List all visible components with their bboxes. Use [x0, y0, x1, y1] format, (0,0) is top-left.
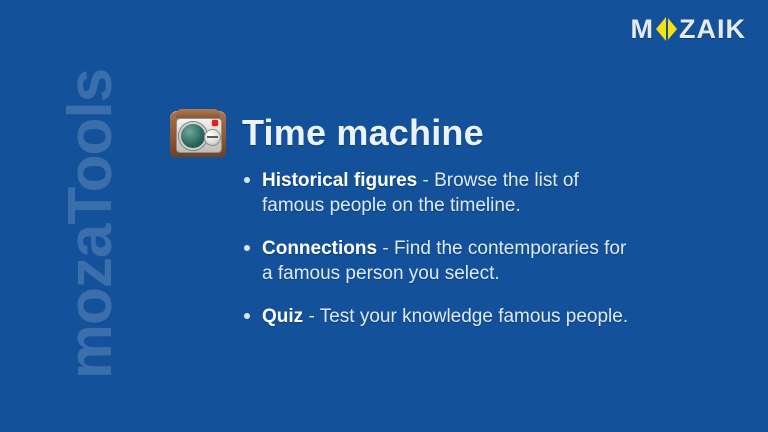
list-item: Quiz - Test your knowledge famous people… — [240, 304, 640, 329]
list-item-term: Connections — [262, 238, 377, 259]
radio-knob-icon — [204, 129, 221, 146]
radio-tuning-dial-icon — [179, 122, 207, 150]
bullet-dot-icon — [244, 313, 250, 319]
page-title: Time machine — [242, 115, 484, 151]
bullet-dot-icon — [244, 245, 250, 251]
bullet-dot-icon — [244, 177, 250, 183]
title-row: Time machine — [168, 104, 484, 162]
list-item-term: Historical figures — [262, 170, 417, 191]
list-item-separator: - — [417, 170, 434, 191]
slide-canvas: M ZAIK mozaTools Time machine Historical… — [0, 0, 768, 432]
radio-led-icon — [212, 120, 218, 126]
time-machine-radio-icon — [168, 107, 228, 159]
list-item-separator: - — [377, 238, 394, 259]
list-item: Historical figures - Browse the list of … — [240, 168, 640, 218]
list-item-separator: - — [303, 306, 320, 327]
mozaik-logo: M ZAIK — [631, 14, 747, 44]
mozaik-logo-text: M ZAIK — [631, 16, 747, 43]
logo-letters-zaik: ZAIK — [679, 16, 746, 43]
mozatools-watermark: mozaTools — [55, 59, 127, 389]
list-item-description: Test your knowledge famous people. — [320, 306, 628, 327]
logo-letter-m: M — [631, 16, 655, 43]
list-item-term: Quiz — [262, 306, 303, 327]
feature-list: Historical figures - Browse the list of … — [240, 168, 640, 329]
diamond-o-glyph-icon — [656, 17, 677, 42]
list-item: Connections - Find the contemporaries fo… — [240, 236, 640, 286]
